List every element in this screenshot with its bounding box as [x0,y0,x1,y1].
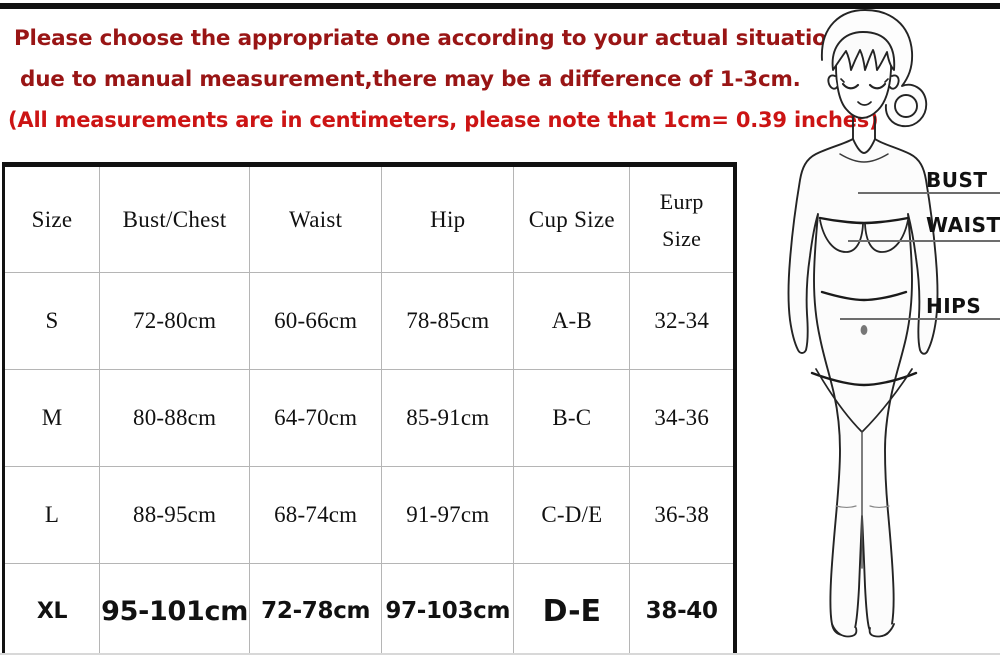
table-row: M 80-88cm 64-70cm 85-91cm B-C 34-36 [4,370,736,467]
cell-waist: 68-74cm [250,467,382,564]
cell-cup: A-B [514,273,630,370]
cell-waist: 64-70cm [250,370,382,467]
cell-bust: 80-88cm [100,370,250,467]
cell-waist: 60-66cm [250,273,382,370]
cell-bust: 72-80cm [100,273,250,370]
cell-waist: 72-78cm [250,564,382,655]
notice-line-2: due to manual measurement,there may be a… [0,59,860,100]
cell-hip: 78-85cm [382,273,514,370]
table-row: XL 95-101cm 72-78cm 97-103cm D-E 38-40 [4,564,736,655]
measurement-notice: Please choose the appropriate one accord… [0,18,860,141]
notice-line-1: Please choose the appropriate one accord… [0,18,860,59]
waist-leader-line [848,240,1000,242]
header-bust: Bust/Chest [100,165,250,273]
cell-eurp: 32-34 [630,273,735,370]
cell-eurp: 38-40 [630,564,735,655]
table-row: L 88-95cm 68-74cm 91-97cm C-D/E 36-38 [4,467,736,564]
header-waist: Waist [250,165,382,273]
cell-cup: D-E [514,564,630,655]
cell-bust: 88-95cm [100,467,250,564]
header-eurp-line2: Size [630,220,733,257]
table-row: S 72-80cm 60-66cm 78-85cm A-B 32-34 [4,273,736,370]
size-chart-page: Please choose the appropriate one accord… [0,0,1000,655]
figure-label-waist: WAIST [926,213,1000,237]
cell-cup: C-D/E [514,467,630,564]
bust-leader-line [858,192,1000,194]
notice-line-3: (All measurements are in centimeters, pl… [0,100,860,141]
size-chart-table: Size Bust/Chest Waist Hip Cup Size Eurp … [2,162,737,655]
cell-size: M [4,370,100,467]
header-eurp-line1: Eurp [630,183,733,220]
header-hip: Hip [382,165,514,273]
cell-hip: 85-91cm [382,370,514,467]
cell-eurp: 36-38 [630,467,735,564]
header-cup: Cup Size [514,165,630,273]
female-body-figure-icon [740,8,1000,653]
cell-eurp: 34-36 [630,370,735,467]
header-size: Size [4,165,100,273]
figure-label-bust: BUST [926,168,988,192]
cell-hip: 97-103cm [382,564,514,655]
header-eurp-size: Eurp Size [630,165,735,273]
hips-leader-line [840,318,1000,320]
cell-cup: B-C [514,370,630,467]
cell-hip: 91-97cm [382,467,514,564]
cell-size: L [4,467,100,564]
table-header-row: Size Bust/Chest Waist Hip Cup Size Eurp … [4,165,736,273]
cell-size: XL [4,564,100,655]
figure-label-hips: HIPS [926,294,981,318]
cell-bust: 95-101cm [100,564,250,655]
measurement-figure-panel: BUST WAIST HIPS [740,8,1000,653]
cell-size: S [4,273,100,370]
